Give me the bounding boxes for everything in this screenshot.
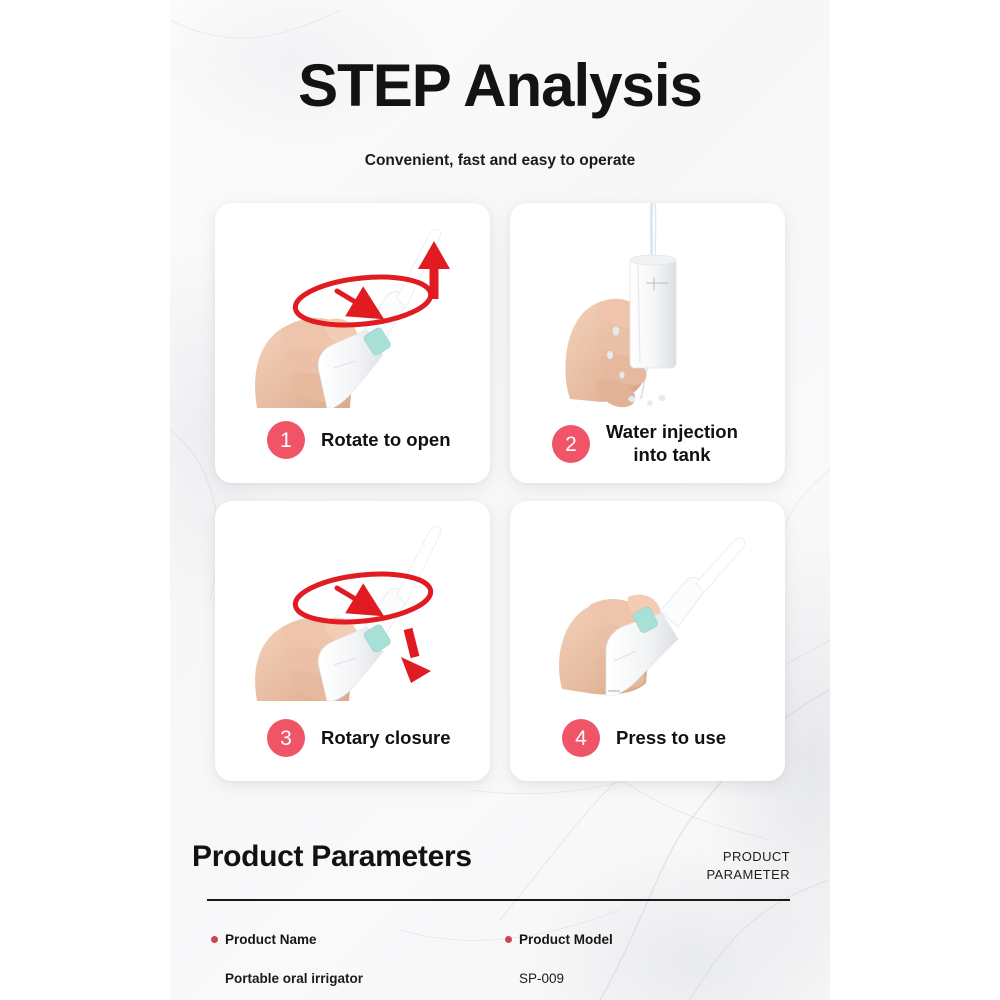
parameter-value: Portable oral irrigator (225, 971, 363, 986)
bullet-dot-icon (505, 936, 512, 943)
product-parameters-kicker: PRODUCT PARAMETER (640, 848, 790, 885)
step-label-line-1: Water injection (606, 421, 738, 444)
kicker-line-2: PARAMETER (640, 866, 790, 884)
section-divider (207, 899, 790, 901)
parameter-row-product-name: Product Name Portable oral irrigator (211, 932, 363, 986)
page-title: STEP Analysis (0, 56, 1000, 116)
product-parameters-title: Product Parameters (192, 840, 472, 874)
steps-grid: 1 Rotate to open (215, 203, 785, 781)
bullet-dot-icon (211, 936, 218, 943)
parameter-label: Product Model (519, 932, 613, 947)
rotation-arrow-icon (293, 271, 433, 331)
step-number-badge: 1 (267, 421, 305, 459)
parameter-label: Product Name (225, 932, 317, 947)
step-number-badge: 3 (267, 719, 305, 757)
parameter-label-wrap: Product Name (211, 932, 363, 947)
step-card-3[interactable]: 3 Rotary closure (215, 501, 490, 781)
step-1-caption: 1 Rotate to open (215, 421, 490, 459)
kicker-line-1: PRODUCT (640, 848, 790, 866)
step-number-badge: 2 (552, 425, 590, 463)
step-4-caption: 4 Press to use (510, 719, 785, 757)
step-card-4[interactable]: 4 Press to use (510, 501, 785, 781)
water-tank (630, 255, 676, 368)
step-3-illustration (215, 501, 490, 706)
step-label: Press to use (616, 727, 726, 750)
step-label: Rotate to open (321, 429, 451, 452)
step-1-illustration (215, 203, 490, 408)
step-card-2[interactable]: 2 Water injection into tank (510, 203, 785, 483)
step-label: Rotary closure (321, 727, 451, 750)
step-label-line-2: into tank (606, 444, 738, 467)
step-card-1[interactable]: 1 Rotate to open (215, 203, 490, 483)
parameter-value: SP-009 (519, 971, 613, 986)
step-number-badge: 4 (562, 719, 600, 757)
step-3-caption: 3 Rotary closure (215, 719, 490, 757)
step-4-illustration (510, 501, 785, 706)
down-arrow-icon (401, 629, 431, 683)
parameter-label-wrap: Product Model (505, 932, 613, 947)
parameter-row-product-model: Product Model SP-009 (505, 932, 613, 986)
page-subtitle: Convenient, fast and easy to operate (0, 152, 1000, 170)
infographic-page: STEP Analysis Convenient, fast and easy … (0, 0, 1000, 1000)
rotation-arrow-icon (293, 568, 433, 628)
step-label: Water injection into tank (606, 421, 738, 467)
step-2-illustration (510, 203, 785, 408)
step-2-caption: 2 Water injection into tank (510, 421, 785, 467)
irrigator-device (318, 229, 441, 408)
